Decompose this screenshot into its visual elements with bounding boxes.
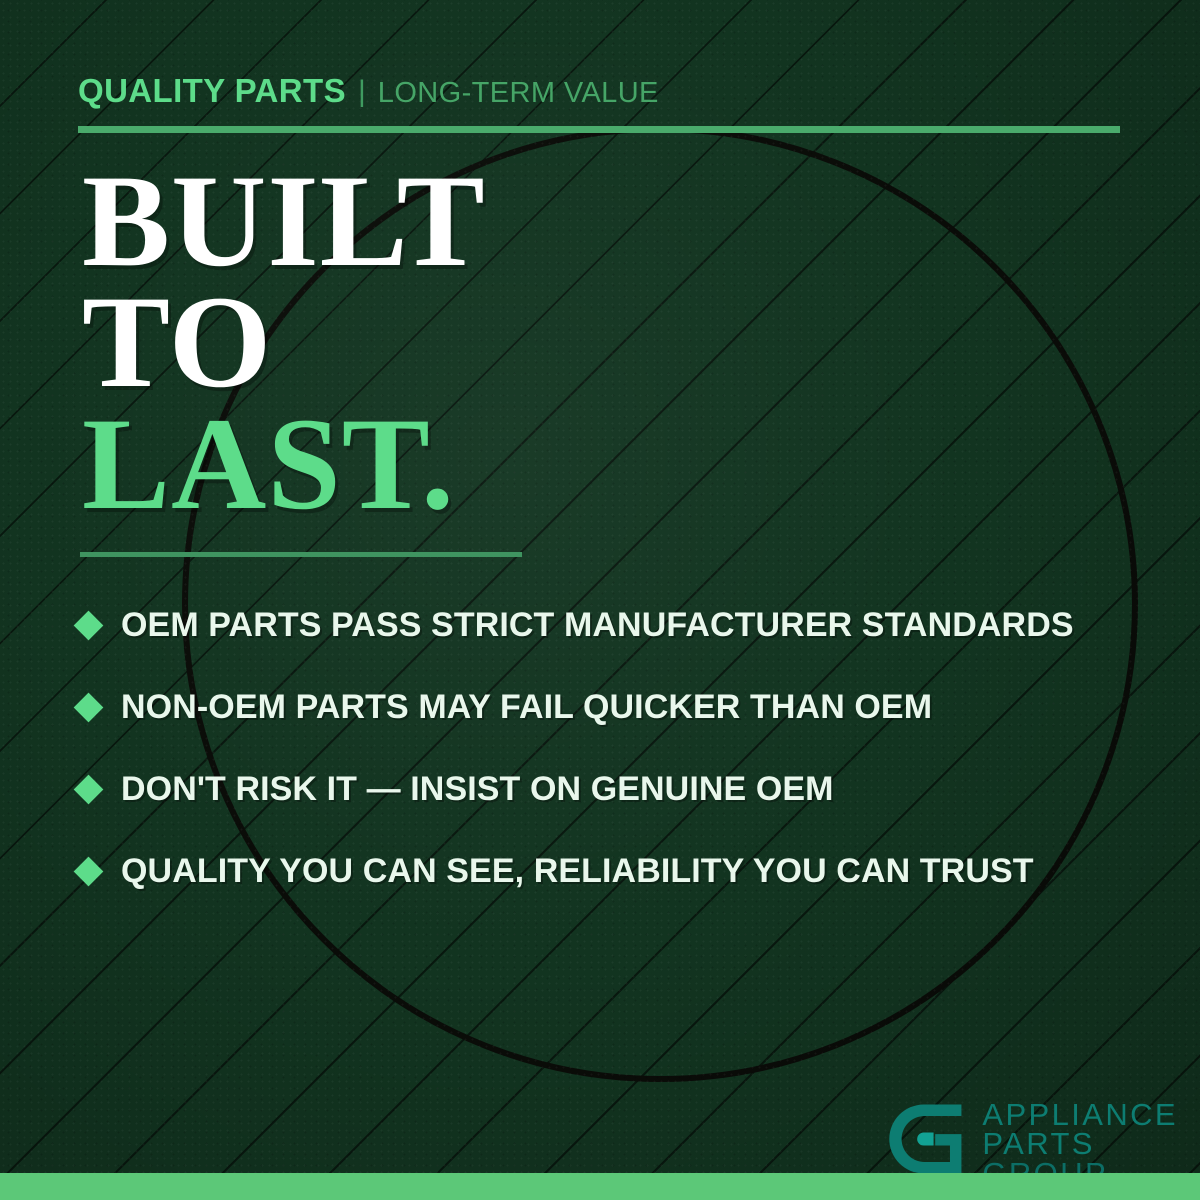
list-item-label: QUALITY YOU CAN SEE, RELIABILITY YOU CAN… — [121, 852, 1034, 891]
diamond-bullet-icon — [74, 692, 104, 722]
bottom-accent-bar — [0, 1173, 1200, 1200]
list-item-label: DON'T RISK IT — INSIST ON GENUINE OEM — [121, 770, 834, 809]
diamond-bullet-icon — [74, 856, 104, 886]
diamond-bullet-icon — [74, 610, 104, 640]
benefit-list: OEM PARTS PASS STRICT MANUFACTURER STAND… — [78, 584, 1144, 912]
eyebrow-separator: | — [358, 75, 366, 109]
page-title: BUILT TO LAST. — [82, 160, 486, 524]
brand-line-2: PARTS — [982, 1129, 1178, 1158]
list-item: QUALITY YOU CAN SEE, RELIABILITY YOU CAN… — [78, 830, 1144, 912]
eyebrow-subtitle: LONG-TERM VALUE — [378, 77, 659, 110]
brand-line-1: APPLIANCE — [982, 1100, 1178, 1129]
header-divider-rule — [78, 126, 1120, 133]
diamond-bullet-icon — [74, 774, 104, 804]
list-item: NON-OEM PARTS MAY FAIL QUICKER THAN OEM — [78, 666, 1144, 748]
list-item: OEM PARTS PASS STRICT MANUFACTURER STAND… — [78, 584, 1144, 666]
list-item: DON'T RISK IT — INSIST ON GENUINE OEM — [78, 748, 1144, 830]
eyebrow: QUALITY PARTS | LONG-TERM VALUE — [78, 72, 659, 110]
headline-divider-rule — [80, 552, 522, 557]
g-monogram-icon — [886, 1098, 968, 1180]
poster-canvas: QUALITY PARTS | LONG-TERM VALUE BUILT TO… — [0, 0, 1200, 1200]
headline-line-3: LAST. — [82, 403, 486, 524]
list-item-label: OEM PARTS PASS STRICT MANUFACTURER STAND… — [121, 606, 1074, 645]
eyebrow-title: QUALITY PARTS — [78, 72, 346, 110]
headline-line-1: BUILT — [82, 160, 486, 281]
headline-line-2: TO — [82, 281, 486, 402]
list-item-label: NON-OEM PARTS MAY FAIL QUICKER THAN OEM — [121, 688, 932, 727]
